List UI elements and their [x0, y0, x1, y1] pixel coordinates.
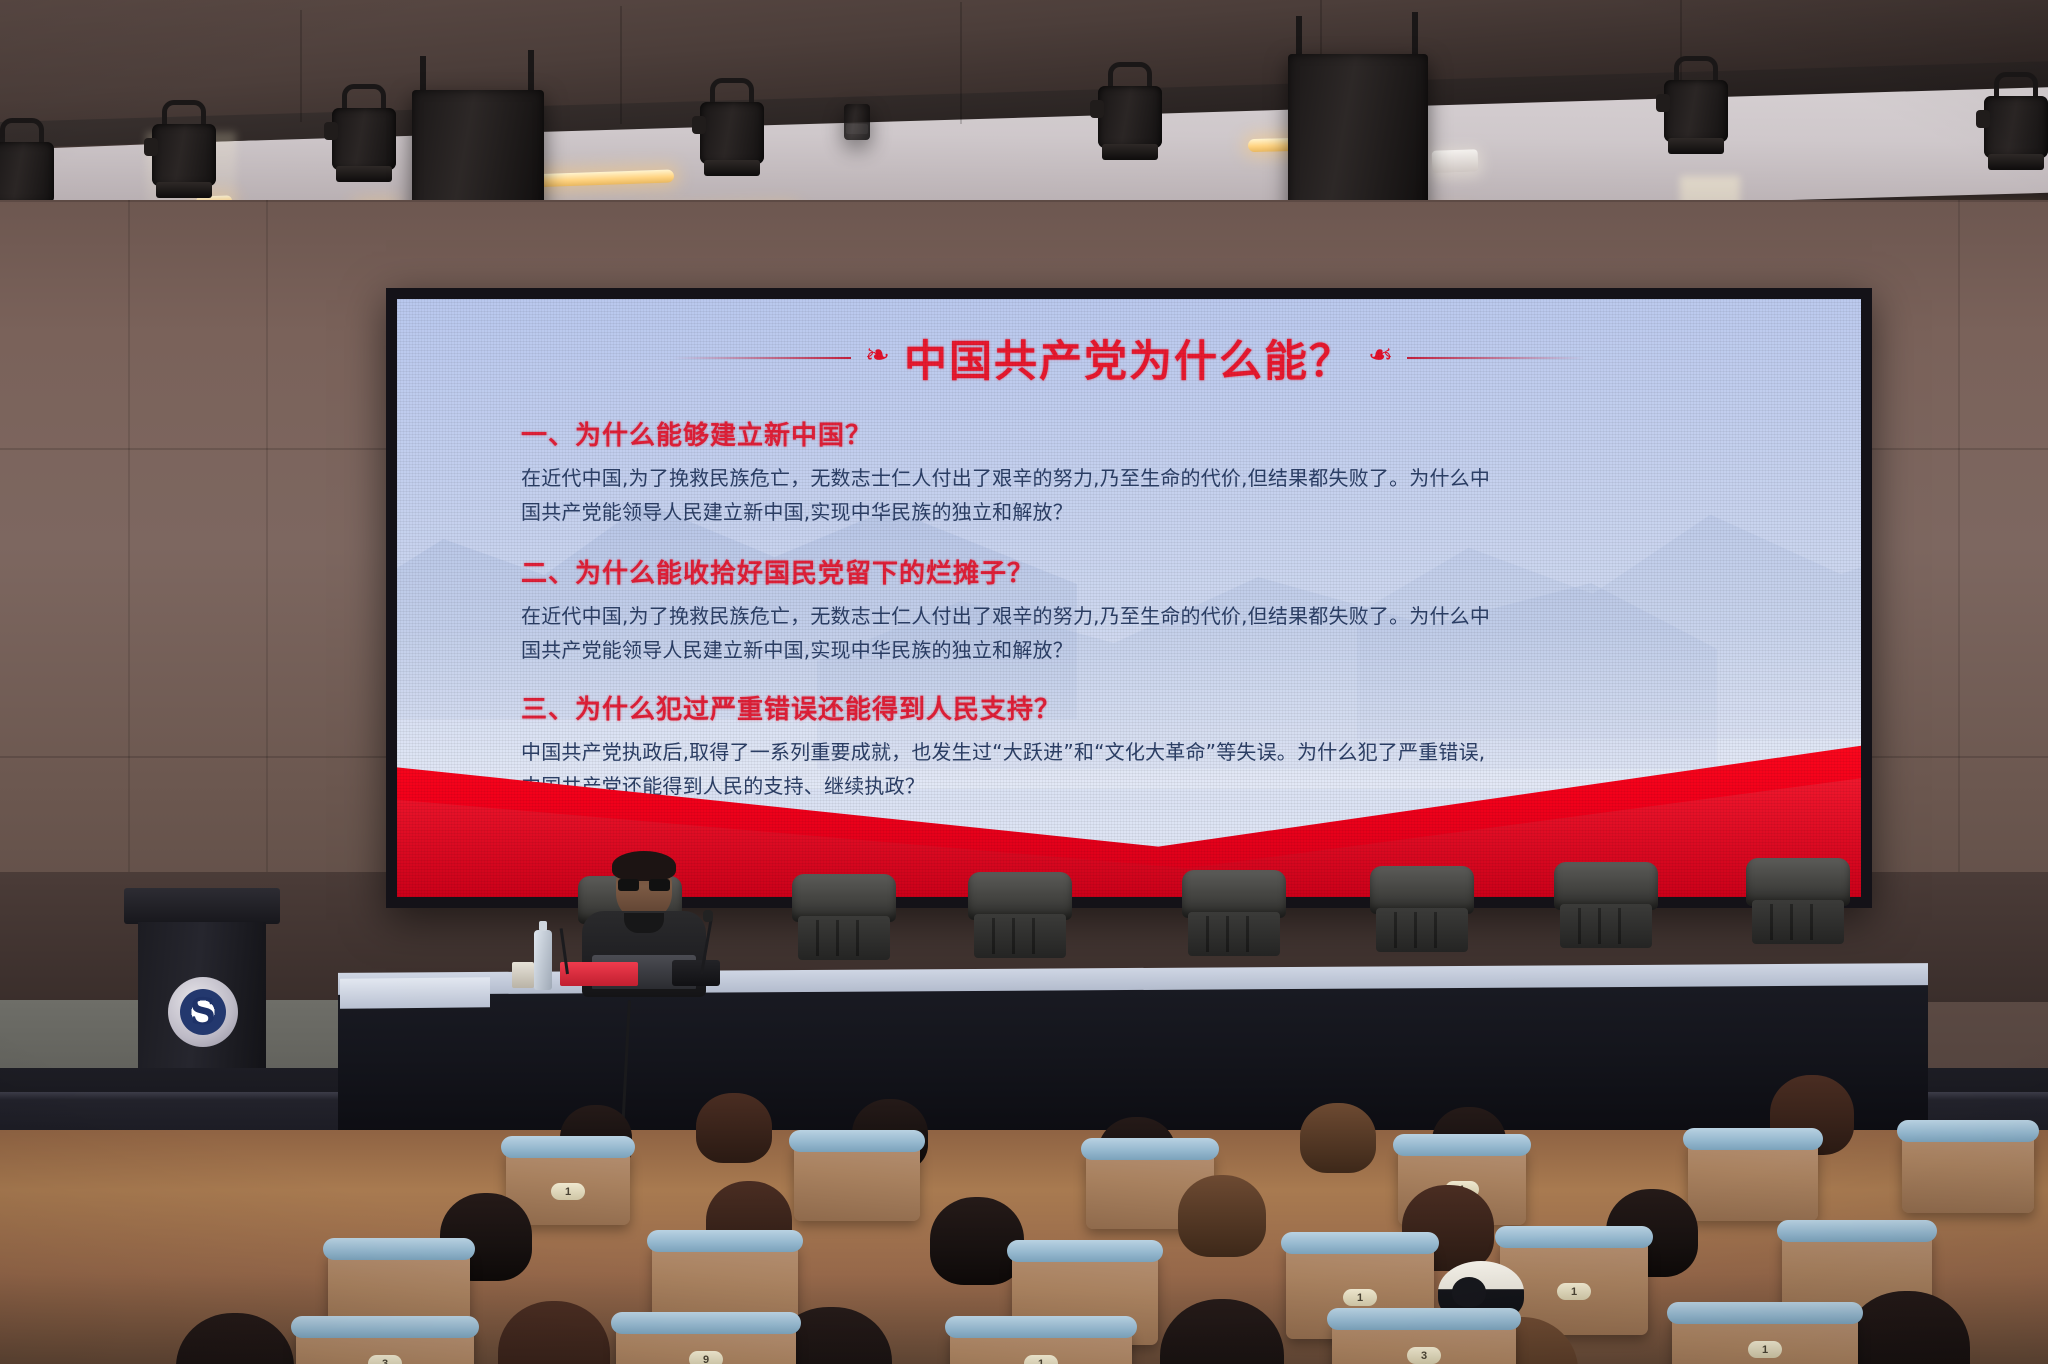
section-heading-1: 一、为什么能够建立新中国？: [521, 415, 872, 452]
seat-number: 1: [551, 1183, 585, 1200]
podium-top: [124, 888, 280, 924]
wall-seam: [128, 200, 130, 900]
audience-head: [930, 1197, 1024, 1285]
section-body-1: 在近代中国,为了挽救民族危亡，无数志士仁人付出了艰辛的努力,乃至生命的代价,但结…: [521, 461, 1501, 530]
title-rule-right: [1407, 357, 1585, 359]
audience-head: [1160, 1299, 1284, 1364]
stage-chair: [1546, 862, 1666, 948]
cloud-ornament-icon: ❧: [1368, 341, 1393, 371]
seat-number: 3: [368, 1355, 402, 1364]
audience-seat[interactable]: [1902, 1133, 2034, 1213]
audience-seat[interactable]: 3: [1332, 1321, 1516, 1364]
seat-number: 1: [1557, 1283, 1591, 1300]
head-table-left-panel: [340, 977, 490, 1009]
red-name-card: [560, 962, 638, 986]
audience-seat[interactable]: [794, 1143, 920, 1221]
stage-chair: [960, 872, 1080, 958]
speaker-hanger: [528, 50, 534, 94]
hanging-speaker: [844, 104, 870, 140]
microphone-head: [703, 910, 713, 922]
seat-number: 1: [1748, 1341, 1782, 1358]
speaker-hanger: [1412, 12, 1418, 58]
audience-seat[interactable]: 1: [950, 1329, 1132, 1364]
lecture-hall-scene: ❧ 中国共产党为什么能？ ❧ 一、为什么能够建立新中国？ 在近代中国,为了挽救民…: [0, 0, 2048, 1364]
title-rule-left: [673, 357, 851, 359]
audience-head: [696, 1093, 772, 1163]
ceiling-seam: [620, 6, 622, 124]
audience-seat[interactable]: 1: [1672, 1315, 1858, 1364]
audience-seat[interactable]: 3: [296, 1329, 474, 1364]
desk-equipment-box: [672, 960, 720, 986]
water-bottle: [534, 930, 552, 990]
speaker-hair: [612, 851, 676, 881]
led-screen: ❧ 中国共产党为什么能？ ❧ 一、为什么能够建立新中国？ 在近代中国,为了挽救民…: [397, 299, 1861, 897]
wall-seam: [1958, 200, 1960, 900]
seat-number: 1: [1024, 1355, 1058, 1364]
section-heading-2: 二、为什么能收拾好国民党留下的烂摊子？: [521, 553, 1034, 590]
seat-number: 1: [1343, 1289, 1377, 1306]
ceiling-seam: [960, 2, 962, 124]
stage-chair: [1362, 866, 1482, 952]
podium-nameplate-text: [136, 897, 268, 909]
audience-head: [1178, 1175, 1266, 1257]
stage-chair: [784, 874, 904, 960]
paper-cup: [512, 962, 534, 988]
stage-chair: [1738, 858, 1858, 944]
wall-seam: [266, 200, 268, 900]
ceiling-seam: [300, 10, 302, 122]
ceiling-downlight: [1432, 149, 1479, 173]
audience-head: [498, 1301, 610, 1364]
slide-title: 中国共产党为什么能？: [904, 327, 1354, 389]
seat-number: 3: [1407, 1347, 1441, 1364]
seat-number: 9: [689, 1351, 723, 1364]
glasses-icon: [618, 879, 670, 891]
emblem-letter: S: [180, 989, 226, 1035]
audience-seat[interactable]: [1688, 1141, 1818, 1221]
led-screen-frame: ❧ 中国共产党为什么能？ ❧ 一、为什么能够建立新中国？ 在近代中国,为了挽救民…: [386, 288, 1872, 908]
stage-chair: [1174, 870, 1294, 956]
audience-head: [176, 1313, 294, 1364]
audience-seat[interactable]: 9: [616, 1325, 796, 1364]
audience-head: [1300, 1103, 1376, 1173]
audience-seating: 1 1 1: [0, 1085, 2048, 1364]
wall-seam: [0, 200, 2048, 202]
slide-title-row: ❧ 中国共产党为什么能？ ❧: [397, 327, 1861, 389]
section-body-2: 在近代中国,为了挽救民族危亡，无数志士仁人付出了艰辛的努力,乃至生命的代价,但结…: [521, 599, 1501, 668]
institution-emblem-icon: S: [168, 977, 238, 1047]
cloud-ornament-icon: ❧: [865, 341, 890, 371]
speaker-collar: [624, 913, 664, 933]
